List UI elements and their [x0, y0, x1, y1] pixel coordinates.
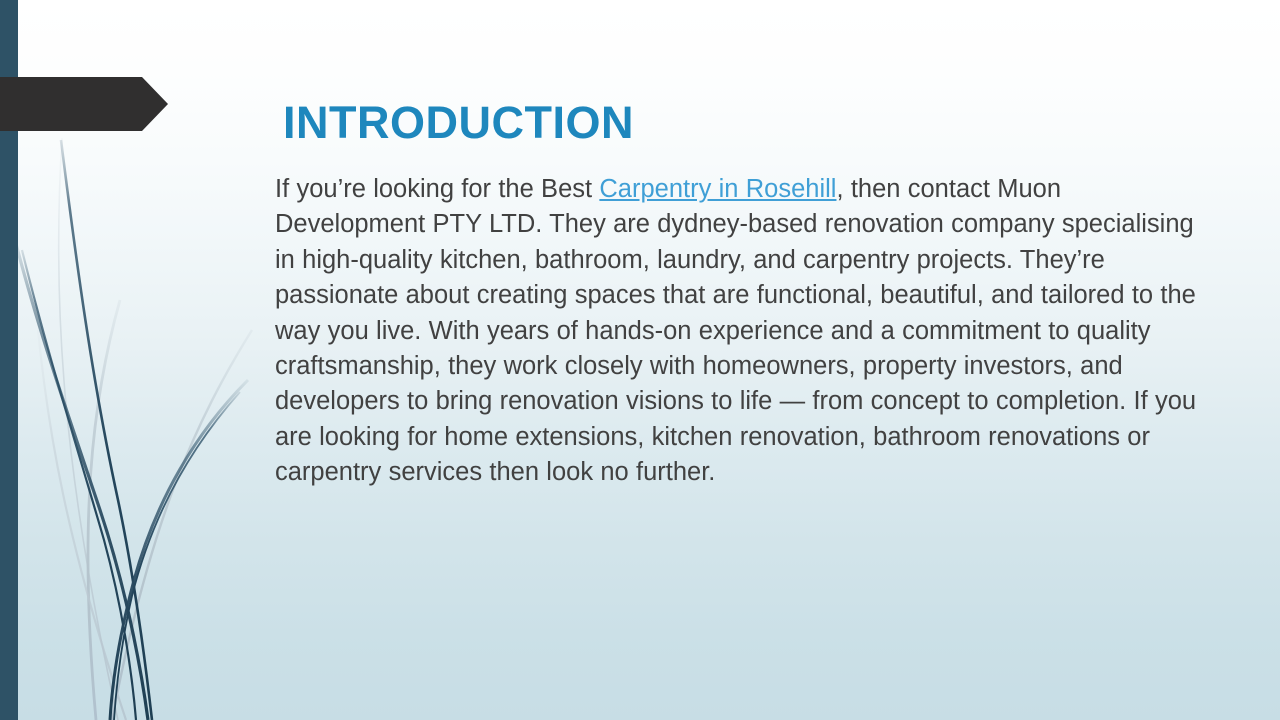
- arrow-banner: [0, 77, 168, 131]
- body-content: If you’re looking for the Best Carpentry…: [275, 172, 1197, 491]
- paragraph-text-after-link: , then contact Muon Development PTY LTD.…: [275, 175, 1196, 486]
- intro-paragraph: If you’re looking for the Best Carpentry…: [275, 172, 1197, 491]
- page-title: INTRODUCTION: [283, 98, 634, 148]
- presentation-slide: INTRODUCTION If you’re looking for the B…: [0, 0, 1280, 720]
- carpentry-in-rosehill-link[interactable]: Carpentry in Rosehill: [599, 175, 836, 203]
- paragraph-text-before-link: If you’re looking for the Best: [275, 175, 599, 203]
